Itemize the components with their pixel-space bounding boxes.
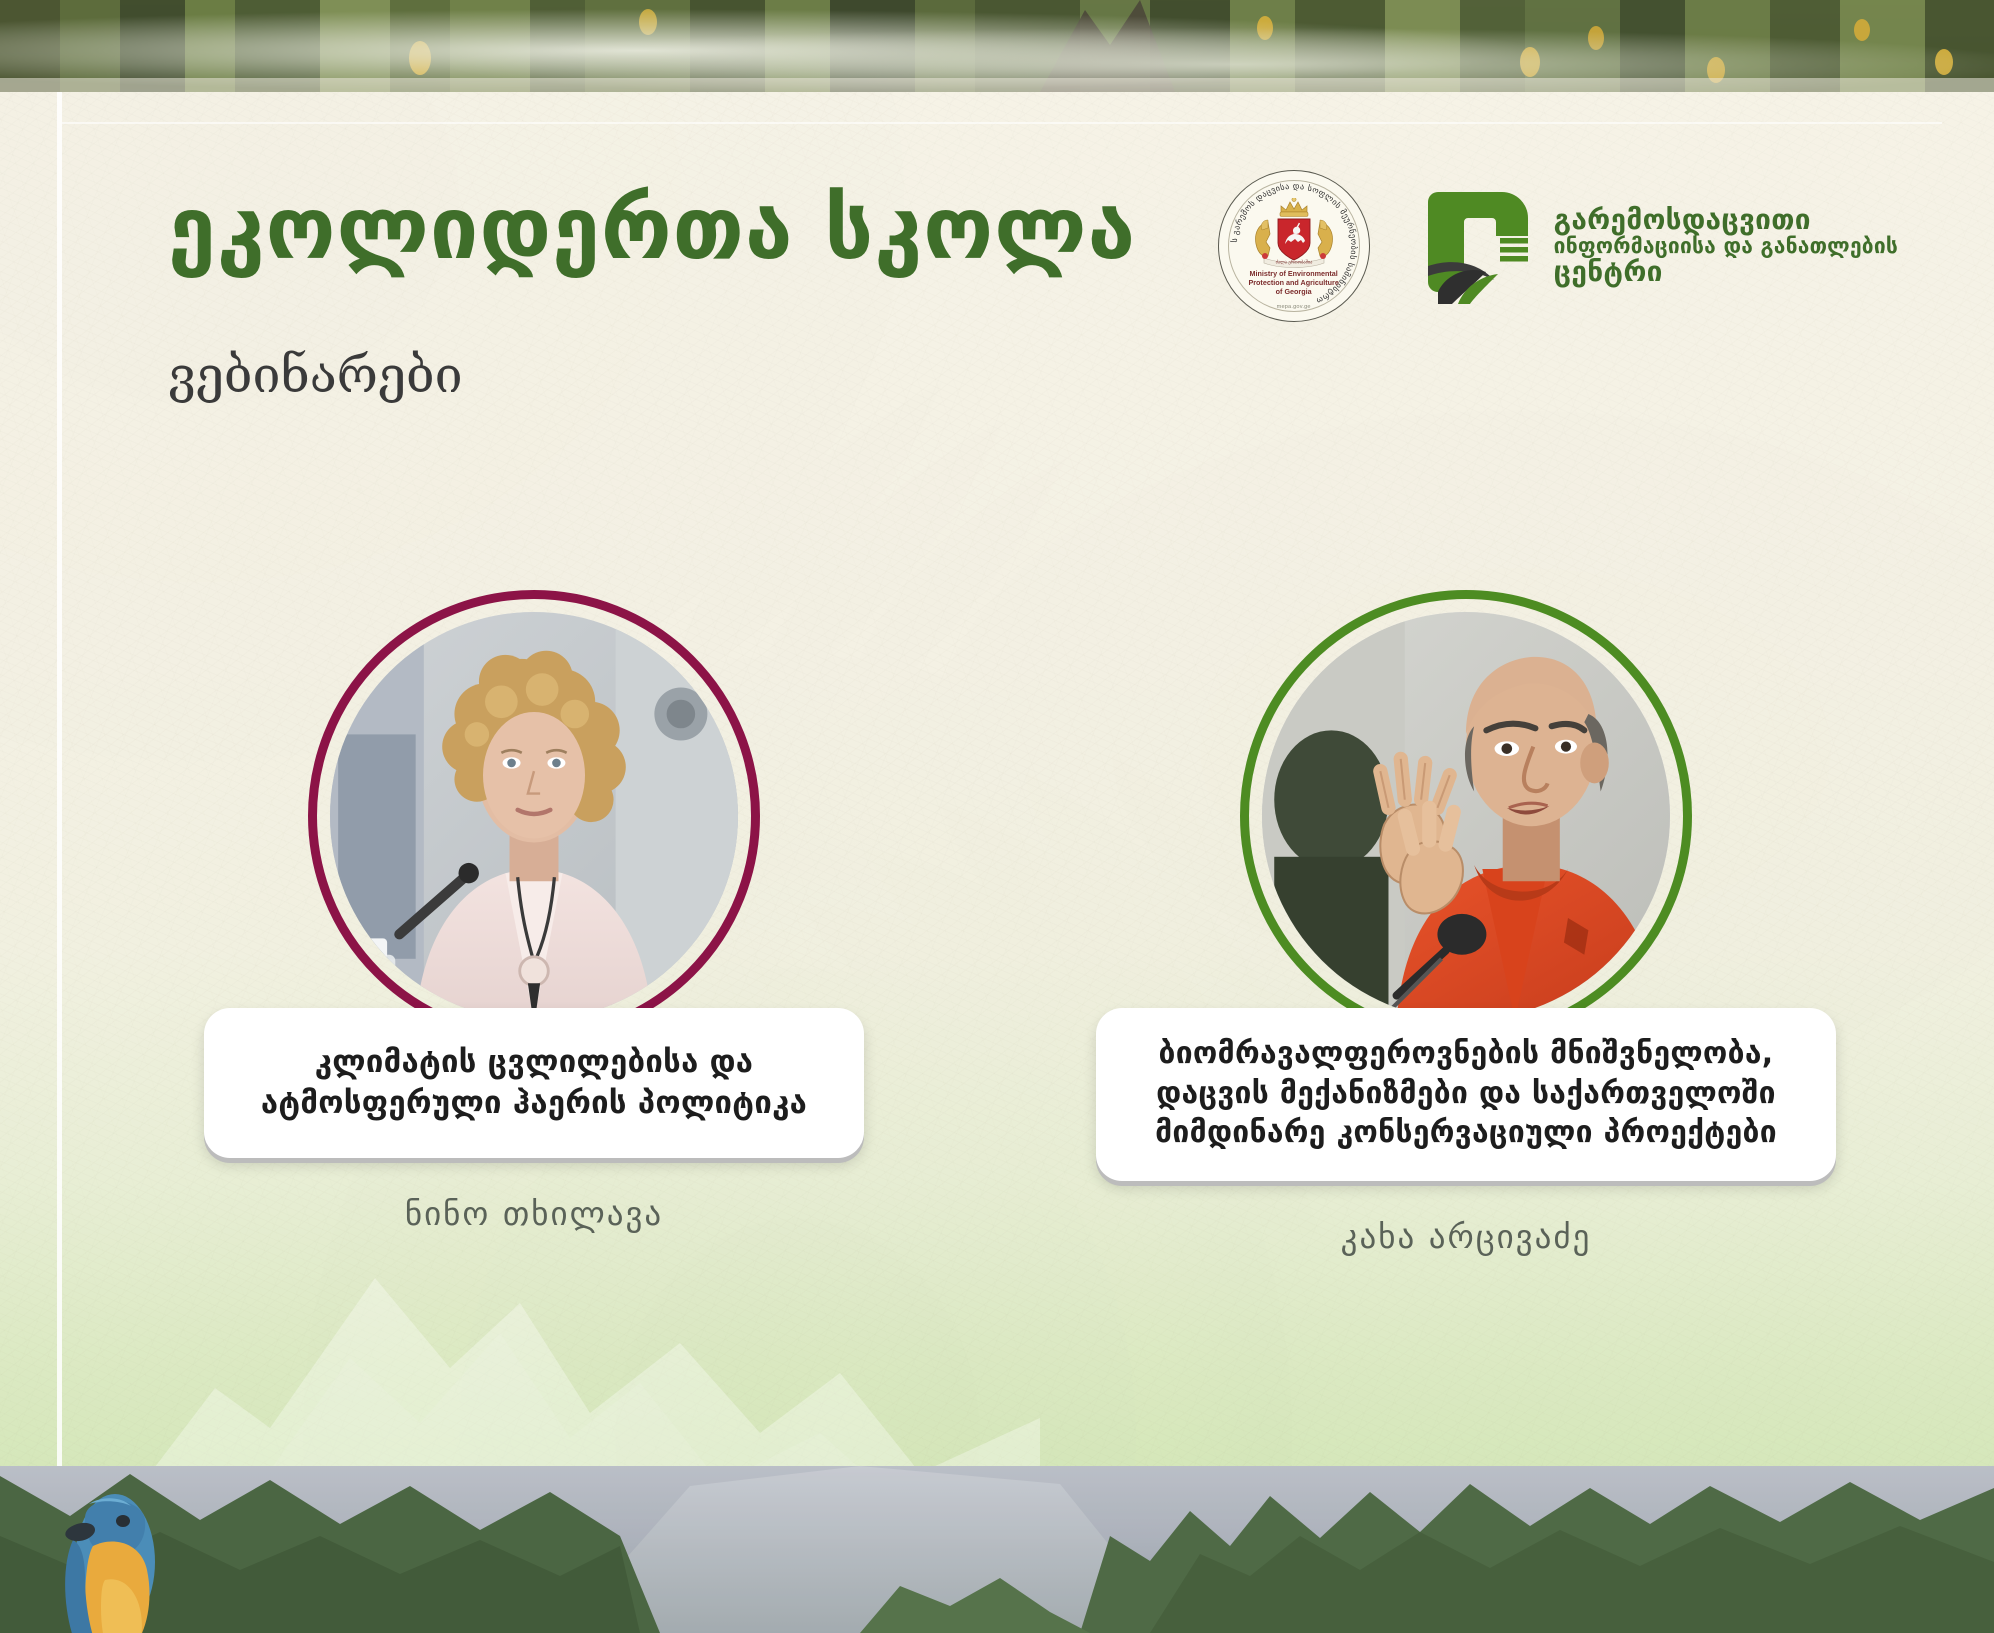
speaker-left-photo-illustration bbox=[330, 612, 738, 1020]
speaker-right-name: კახა არცივაძე bbox=[1016, 1217, 1916, 1256]
eiec-book-leaf-icon bbox=[1424, 188, 1540, 304]
speaker-right-topic-line1: ბიომრავალფეროვნების მნიშვნელობა, bbox=[1126, 1034, 1806, 1074]
eiec-line3: ცენტრი bbox=[1554, 257, 1898, 287]
speaker-left-topic-line1: კლიმატის ცვლილებისა და bbox=[234, 1042, 834, 1083]
speaker-left-name: ნინო თხილავა bbox=[84, 1194, 984, 1233]
ministry-name-line2: Protection and Agriculture bbox=[1241, 278, 1347, 287]
speakers-section: კლიმატის ცვლილებისა და ატმოსფერული ჰაერი… bbox=[0, 590, 1994, 1370]
ministry-website: mepa.gov.ge bbox=[1219, 304, 1369, 310]
ministry-name-line1: Ministry of Environmental bbox=[1241, 269, 1347, 278]
speaker-right-photo-illustration bbox=[1262, 612, 1670, 1020]
speaker-right-photo bbox=[1262, 612, 1670, 1020]
page-subtitle: ვებინარები bbox=[168, 350, 463, 400]
speaker-right-topic-line3: მიმდინარე კონსერვაციული პროექტები bbox=[1126, 1113, 1806, 1153]
top-banner-photo bbox=[0, 0, 1994, 92]
speaker-right-topic-line2: დაცვის მექანიზმები და საქართველოში bbox=[1126, 1074, 1806, 1114]
bottom-banner-photo bbox=[0, 1466, 1994, 1633]
speaker-left-topic-box: კლიმატის ცვლილებისა და ატმოსფერული ჰაერი… bbox=[204, 1008, 864, 1158]
ministry-name-en: Ministry of Environmental Protection and… bbox=[1219, 269, 1369, 297]
poster: ეკოლიდერთა სკოლა ვებინარები საქართველოს … bbox=[0, 0, 1994, 1633]
page-title: ეკოლიდერთა სკოლა bbox=[168, 186, 1136, 272]
speaker-card-right: ბიომრავალფეროვნების მნიშვნელობა, დაცვის … bbox=[1016, 590, 1916, 1256]
ministry-name-line3: of Georgia bbox=[1241, 287, 1347, 296]
speaker-left-photo bbox=[330, 612, 738, 1020]
top-horizontal-rule bbox=[62, 122, 1942, 124]
eiec-line2: ინფორმაციისა და განათლების bbox=[1554, 235, 1898, 257]
speaker-card-left: კლიმატის ცვლილებისა და ატმოსფერული ჰაერი… bbox=[84, 590, 984, 1233]
speaker-left-portrait-frame bbox=[308, 590, 760, 1042]
logo-row: საქართველოს გარემოს დაცვისა და სოფლის მე… bbox=[1218, 170, 1898, 322]
coat-of-arms-icon: ძალა ერთობაშია bbox=[1248, 198, 1340, 270]
eiec-wordmark: გარემოსდაცვითი ინფორმაციისა და განათლები… bbox=[1554, 205, 1898, 287]
speaker-left-topic-line2: ატმოსფერული ჰაერის პოლიტიკა bbox=[234, 1083, 834, 1124]
speaker-right-topic-box: ბიომრავალფეროვნების მნიშვნელობა, დაცვის … bbox=[1096, 1008, 1836, 1181]
ministry-logo: საქართველოს გარემოს დაცვისა და სოფლის მე… bbox=[1218, 170, 1370, 322]
svg-text:ძალა ერთობაშია: ძალა ერთობაშია bbox=[1275, 258, 1313, 265]
speaker-right-portrait-frame bbox=[1240, 590, 1692, 1042]
eiec-logo: გარემოსდაცვითი ინფორმაციისა და განათლები… bbox=[1424, 188, 1898, 304]
eiec-line1: გარემოსდაცვითი bbox=[1554, 205, 1898, 235]
